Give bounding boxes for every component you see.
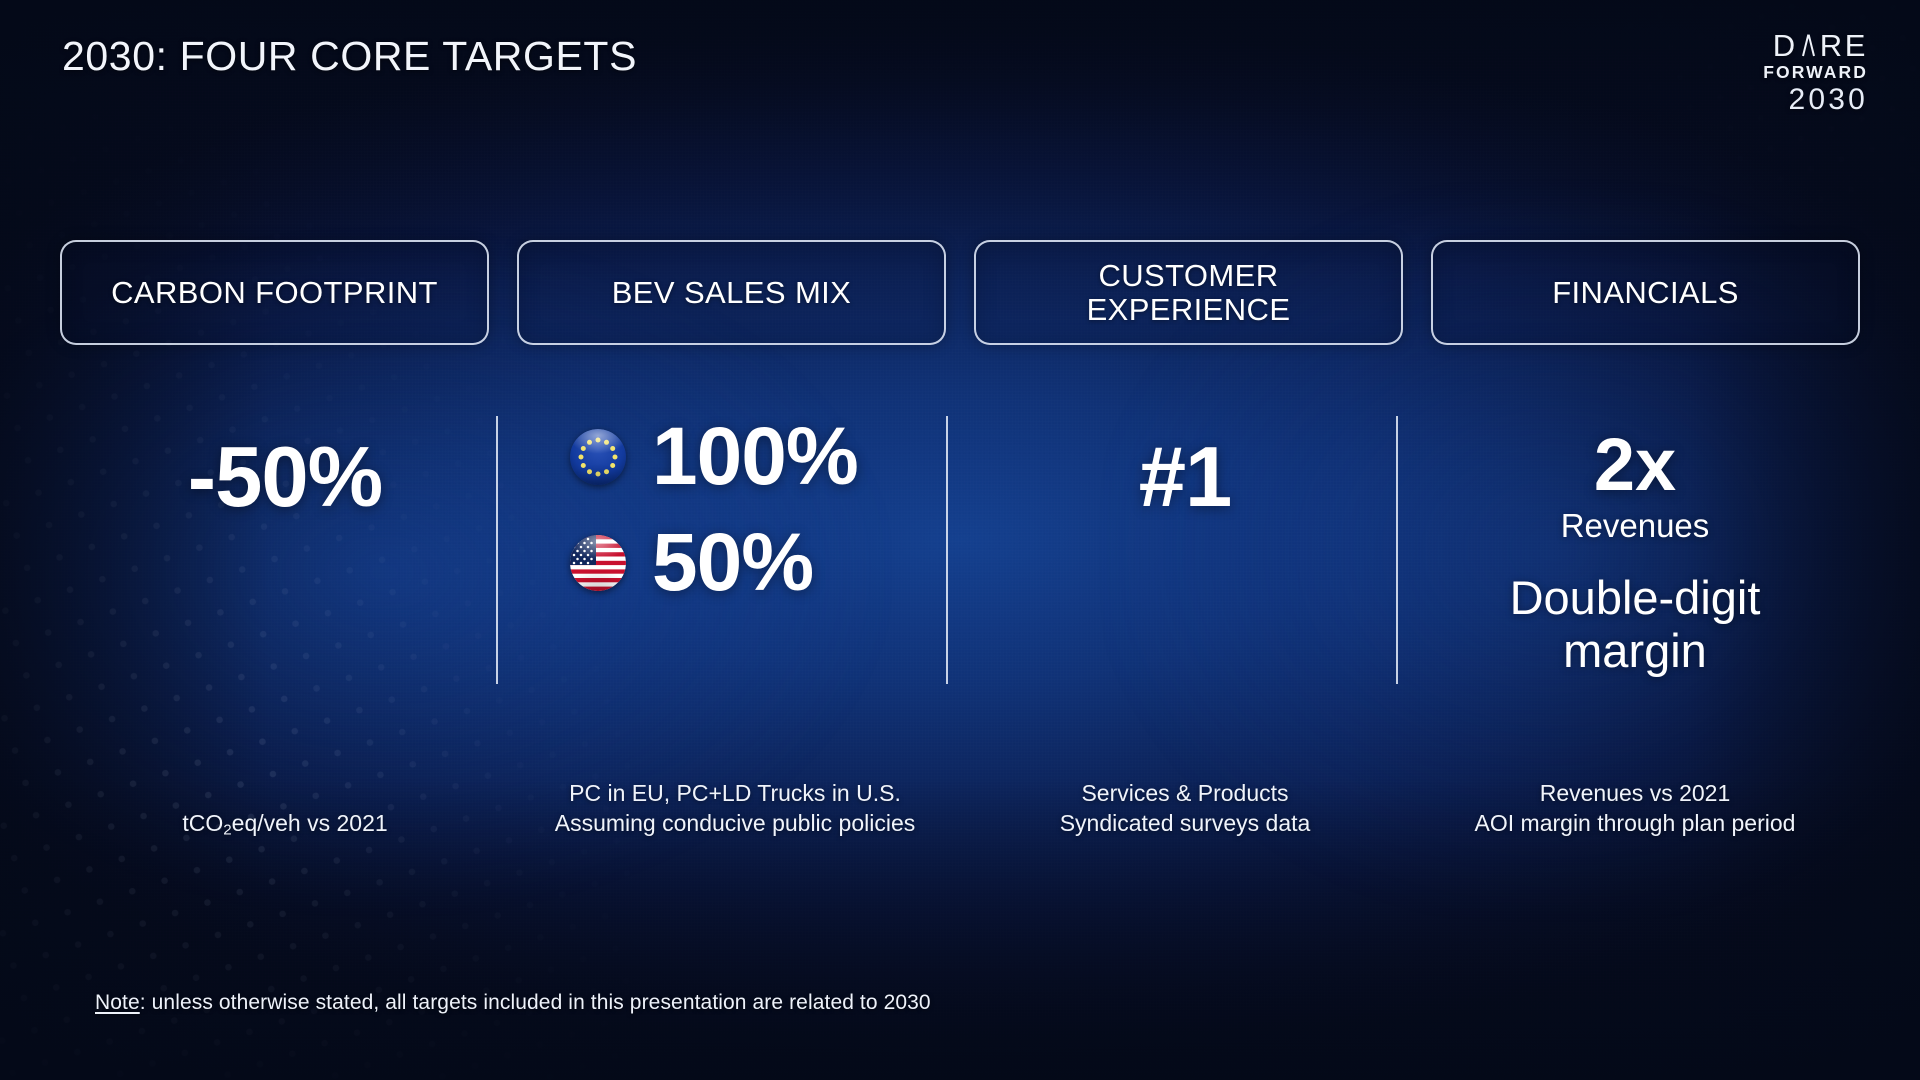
target-value-columns: -50% [60,392,1860,702]
pill-label: CUSTOMER EXPERIENCE [1087,259,1291,326]
logo-forward-line: FORWARD [1740,64,1868,82]
caption-carbon-footprint: tCO2eq/veh vs 2021 [60,778,510,841]
column-bev-sales-mix: 100% [510,392,960,702]
slide-root: 2030: FOUR CORE TARGETS D RE FORWARD 203… [0,0,1920,1080]
pill-label: CARBON FOOTPRINT [111,276,438,309]
bev-value-us: 50% [652,522,813,604]
pill-carbon-footprint[interactable]: CARBON FOOTPRINT [60,240,489,345]
column-carbon-footprint: -50% [60,392,510,702]
logo-letter-a-icon [1799,34,1819,56]
dare-forward-logo: D RE FORWARD 2030 [1740,30,1868,115]
pill-label: FINANCIALS [1552,276,1739,309]
footnote-text: : unless otherwise stated, all targets i… [140,991,931,1014]
us-flag-icon [570,535,626,591]
carbon-footprint-value: -50% [188,435,382,520]
bev-row-eu: 100% [570,416,900,498]
footnote: Note: unless otherwise stated, all targe… [95,991,931,1015]
financials-margin-target: Double-digit margin [1510,572,1761,677]
pill-customer-experience[interactable]: CUSTOMER EXPERIENCE [974,240,1403,345]
caption-customer-experience: Services & Products Syndicated surveys d… [960,778,1410,841]
page-title: 2030: FOUR CORE TARGETS [62,33,637,80]
caption-text-part: eq/veh vs 2021 [232,810,388,836]
logo-letters-re: RE [1820,30,1868,61]
logo-letter-d: D [1773,30,1798,61]
bev-row-us: 50% [570,522,900,604]
logo-year-line: 2030 [1740,85,1868,115]
financials-multiplier: 2x [1594,428,1676,502]
logo-wordmark: D RE [1740,30,1868,61]
column-captions: tCO2eq/veh vs 2021 PC in EU, PC+LD Truck… [60,778,1860,841]
customer-experience-value: #1 [1139,435,1232,520]
pill-label: BEV SALES MIX [612,276,852,309]
pill-bev-sales-mix[interactable]: BEV SALES MIX [517,240,946,345]
caption-financials: Revenues vs 2021 AOI margin through plan… [1410,778,1860,841]
caption-text-part: tCO [182,810,223,836]
column-customer-experience: #1 [960,392,1410,702]
pill-financials[interactable]: FINANCIALS [1431,240,1860,345]
caption-bev-sales-mix: PC in EU, PC+LD Trucks in U.S. Assuming … [510,778,960,841]
eu-flag-icon [570,429,626,485]
footnote-label: Note [95,991,140,1014]
financials-multiplier-label: Revenues [1561,508,1710,544]
bev-value-eu: 100% [652,416,858,498]
column-financials: 2x Revenues Double-digit margin [1410,392,1860,702]
target-category-pills: CARBON FOOTPRINT BEV SALES MIX CUSTOMER … [60,240,1860,345]
caption-subscript: 2 [223,822,231,839]
